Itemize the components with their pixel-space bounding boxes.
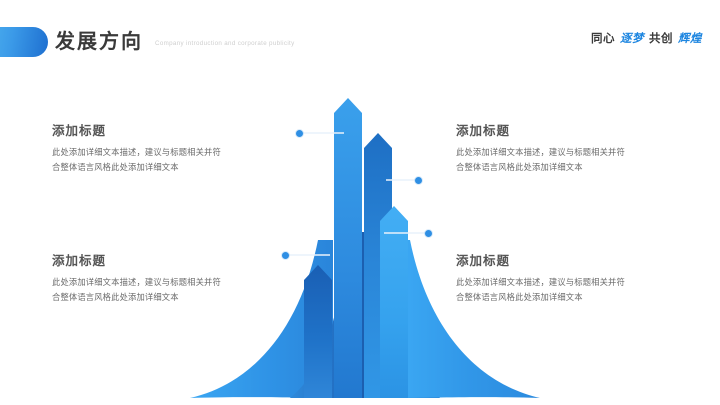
block-title: 添加标题 bbox=[52, 254, 302, 268]
text-block-bottom-left: 添加标题 此处添加详细文本描述，建议与标题相关并符 合整体语言风格此处添加详细文… bbox=[52, 254, 302, 305]
connector-dot-top-right bbox=[415, 177, 422, 184]
block-body-line-1: 此处添加详细文本描述，建议与标题相关并符 bbox=[52, 275, 302, 290]
block-title: 添加标题 bbox=[456, 254, 706, 268]
text-block-bottom-right: 添加标题 此处添加详细文本描述，建议与标题相关并符 合整体语言风格此处添加详细文… bbox=[456, 254, 706, 305]
block-body-line-2: 合整体语言风格此处添加详细文本 bbox=[52, 290, 302, 305]
central-arrow-graphic bbox=[0, 0, 720, 405]
block-body-line-1: 此处添加详细文本描述，建议与标题相关并符 bbox=[456, 145, 706, 160]
connector-dot-bottom-right bbox=[425, 230, 432, 237]
text-block-top-left: 添加标题 此处添加详细文本描述，建议与标题相关并符 合整体语言风格此处添加详细文… bbox=[52, 124, 302, 175]
block-body-line-2: 合整体语言风格此处添加详细文本 bbox=[52, 160, 302, 175]
block-body-line-2: 合整体语言风格此处添加详细文本 bbox=[456, 290, 706, 305]
block-title: 添加标题 bbox=[52, 124, 302, 138]
slide-root: 发展方向 Company introduction and corporate … bbox=[0, 0, 720, 405]
text-block-top-right: 添加标题 此处添加详细文本描述，建议与标题相关并符 合整体语言风格此处添加详细文… bbox=[456, 124, 706, 175]
block-body-line-2: 合整体语言风格此处添加详细文本 bbox=[456, 160, 706, 175]
block-body-line-1: 此处添加详细文本描述，建议与标题相关并符 bbox=[52, 145, 302, 160]
arrow-4-light bbox=[380, 206, 408, 398]
block-body-line-1: 此处添加详细文本描述，建议与标题相关并符 bbox=[456, 275, 706, 290]
arrow-1-dark bbox=[304, 265, 332, 398]
block-title: 添加标题 bbox=[456, 124, 706, 138]
arrow-2-tallest bbox=[334, 98, 362, 398]
